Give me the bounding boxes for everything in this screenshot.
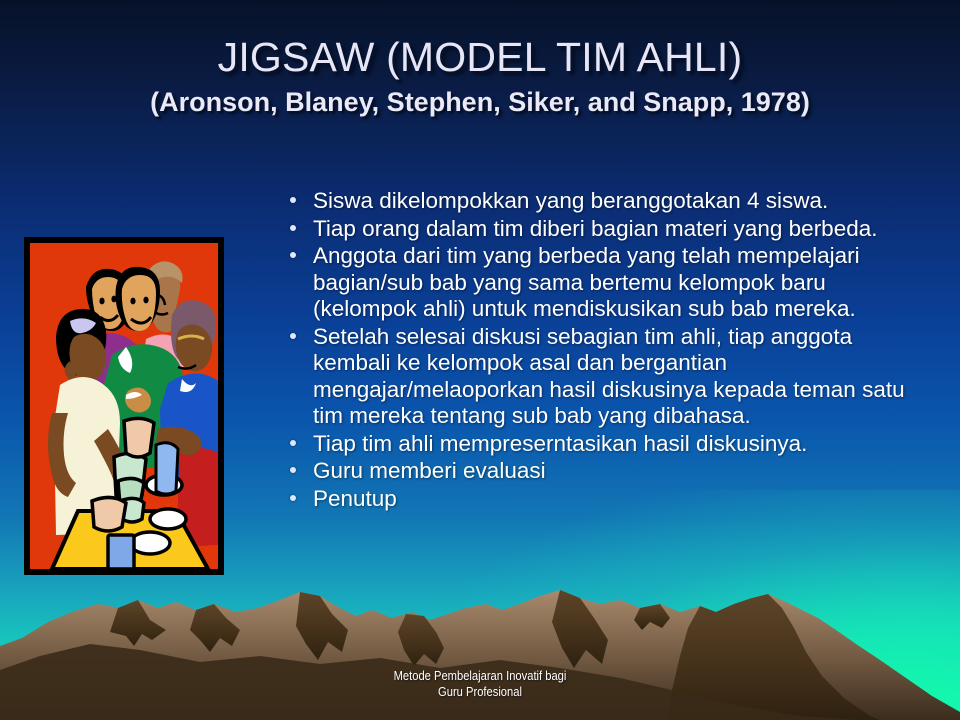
list-item: Guru memberi evaluasi: [283, 458, 923, 485]
list-item-text: Tiap tim ahli mempreserntasikan hasil di…: [313, 431, 807, 456]
bullet-dot-icon: [290, 252, 296, 258]
bullet-list: Siswa dikelompokkan yang beranggotakan 4…: [283, 188, 923, 513]
list-item-text: Anggota dari tim yang berbeda yang telah…: [313, 243, 860, 321]
list-item-text: Guru memberi evaluasi: [313, 458, 546, 483]
list-item: Anggota dari tim yang berbeda yang telah…: [283, 243, 923, 323]
page-subtitle: (Aronson, Blaney, Stephen, Siker, and Sn…: [0, 86, 960, 118]
bullet-dot-icon: [290, 225, 296, 231]
list-item-text: Tiap orang dalam tim diberi bagian mater…: [313, 216, 878, 241]
list-item: Penutup: [283, 486, 923, 513]
slide-footer: Metode Pembelajaran Inovatif bagi Guru P…: [67, 668, 893, 700]
clipart-artwork: [30, 243, 218, 569]
group-discussion-clipart: [24, 237, 224, 575]
footer-line-1: Metode Pembelajaran Inovatif bagi: [67, 668, 893, 684]
list-item: Tiap orang dalam tim diberi bagian mater…: [283, 216, 923, 243]
title-block: JIGSAW (MODEL TIM AHLI) (Aronson, Blaney…: [0, 34, 960, 118]
list-item: Tiap tim ahli mempreserntasikan hasil di…: [283, 431, 923, 458]
list-item-text: Siswa dikelompokkan yang beranggotakan 4…: [313, 188, 828, 213]
bullet-dot-icon: [290, 467, 296, 473]
page-title: JIGSAW (MODEL TIM AHLI): [0, 34, 960, 80]
bullet-dot-icon: [290, 495, 296, 501]
bullet-dot-icon: [290, 333, 296, 339]
list-item: Setelah selesai diskusi sebagian tim ahl…: [283, 324, 923, 430]
bullet-dot-icon: [290, 197, 296, 203]
bullet-dot-icon: [290, 440, 296, 446]
footer-line-2: Guru Profesional: [67, 684, 893, 700]
list-item-text: Setelah selesai diskusi sebagian tim ahl…: [313, 324, 905, 429]
list-item-text: Penutup: [313, 486, 397, 511]
list-item: Siswa dikelompokkan yang beranggotakan 4…: [283, 188, 923, 215]
presentation-slide: JIGSAW (MODEL TIM AHLI) (Aronson, Blaney…: [0, 0, 960, 720]
